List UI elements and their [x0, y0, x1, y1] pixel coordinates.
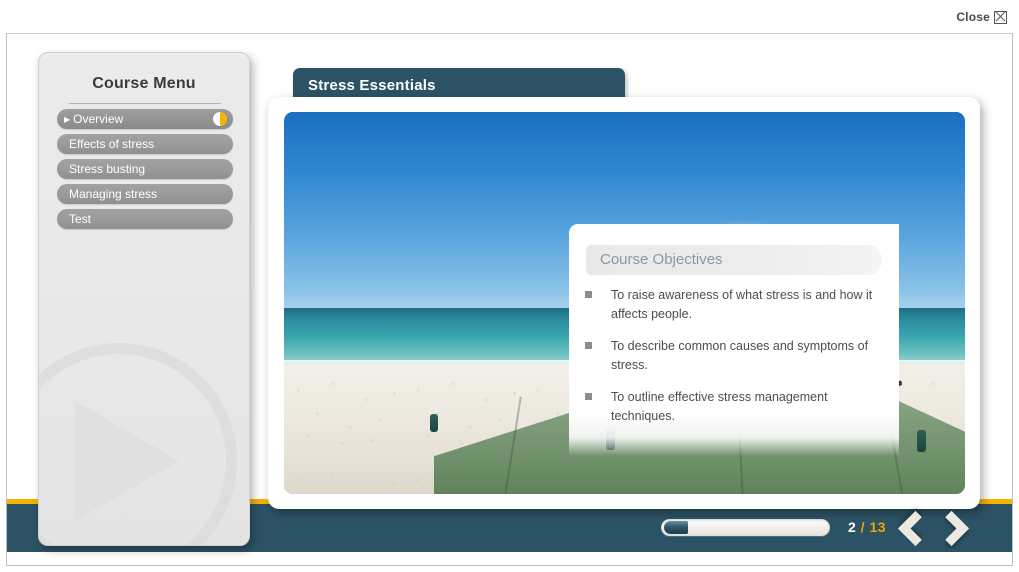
previous-slide-button[interactable] [896, 511, 930, 545]
list-item: To describe common causes and symptoms o… [583, 337, 883, 375]
course-menu-list: ▶Overview Effects of stress Stress busti… [57, 109, 233, 234]
sidebar-item-overview[interactable]: ▶Overview [57, 109, 233, 129]
objectives-panel: Course Objectives To raise awareness of … [569, 224, 899, 456]
objective-text: To raise awareness of what stress is and… [611, 288, 872, 321]
list-item: To outline effective stress management t… [583, 388, 883, 426]
half-filled-circle-icon [213, 112, 227, 126]
course-player-screenshot: Close Course Menu ▶Overview Effects of s… [0, 0, 1019, 572]
total-page-number: 13 [869, 519, 886, 535]
slide-canvas: Course Objectives To raise awareness of … [284, 112, 965, 494]
sidebar-item-managing-stress[interactable]: Managing stress [57, 184, 233, 204]
page-separator: / [856, 519, 869, 535]
close-box-icon [994, 11, 1007, 24]
square-bullet-icon [585, 342, 592, 349]
course-menu-divider [69, 103, 221, 104]
close-button-label: Close [956, 10, 990, 24]
window-close-bar: Close [0, 0, 1019, 33]
sidebar-item-label: Effects of stress [69, 137, 154, 151]
objective-text: To describe common causes and symptoms o… [611, 339, 868, 372]
play-button-watermark-icon [38, 343, 237, 546]
sidebar-item-label: Stress busting [69, 162, 145, 176]
course-menu-panel: Course Menu ▶Overview Effects of stress … [38, 52, 250, 546]
chevron-right-icon [934, 511, 969, 546]
course-menu-title: Course Menu [39, 75, 249, 93]
course-progress-bar[interactable] [661, 519, 830, 536]
course-progress-fill [664, 521, 688, 534]
square-bullet-icon [585, 393, 592, 400]
sidebar-item-test[interactable]: Test [57, 209, 233, 229]
sidebar-item-effects-of-stress[interactable]: Effects of stress [57, 134, 233, 154]
sidebar-item-label: Managing stress [69, 187, 157, 201]
play-arrow-icon: ▶ [64, 110, 70, 129]
close-button[interactable]: Close [956, 10, 1007, 24]
chevron-left-icon [898, 511, 933, 546]
next-slide-button[interactable] [932, 511, 966, 545]
objectives-list: To raise awareness of what stress is and… [583, 286, 883, 439]
page-indicator: 2 / 13 [848, 519, 886, 535]
slide-stage: Course Objectives To raise awareness of … [268, 97, 980, 509]
objective-text: To outline effective stress management t… [611, 390, 828, 423]
sidebar-item-stress-busting[interactable]: Stress busting [57, 159, 233, 179]
sidebar-item-label: Test [69, 212, 91, 226]
sidebar-item-label: Overview [73, 112, 123, 126]
square-bullet-icon [585, 291, 592, 298]
list-item: To raise awareness of what stress is and… [583, 286, 883, 324]
objectives-heading: Course Objectives [586, 245, 882, 275]
